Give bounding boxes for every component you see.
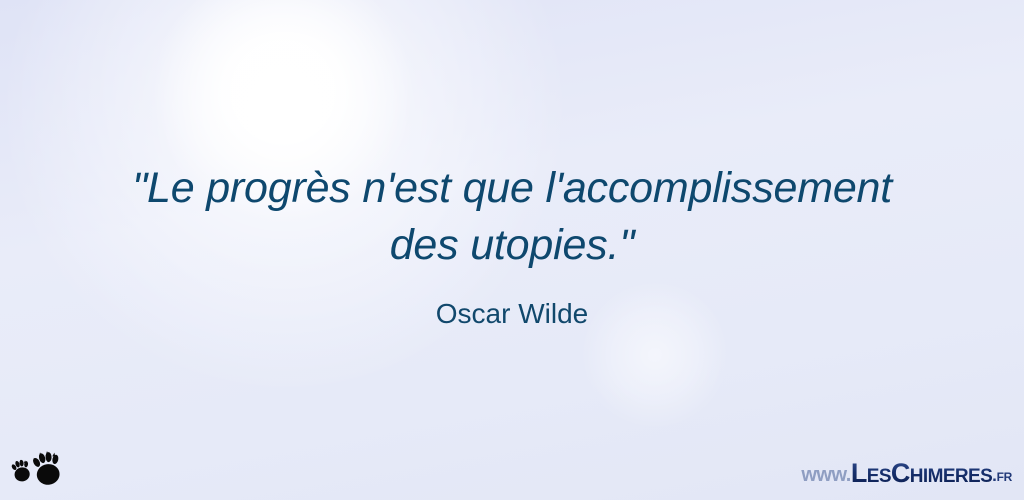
watermark-site-name: LesChimeres (851, 458, 992, 489)
watermark-tld: .fr (992, 466, 1012, 486)
paw-prints-logo[interactable] (8, 446, 68, 492)
quote-block: "Le progrès n'est que l'accomplissement … (0, 160, 1024, 274)
bear-paw-prints-icon (8, 446, 68, 492)
quote-author: Oscar Wilde (0, 298, 1024, 330)
quote-text: "Le progrès n'est que l'accomplissement … (0, 160, 1024, 274)
site-watermark[interactable]: www. LesChimeres .fr (801, 458, 1012, 490)
watermark-prefix: www. (801, 464, 850, 487)
quote-card: "Le progrès n'est que l'accomplissement … (0, 0, 1024, 500)
